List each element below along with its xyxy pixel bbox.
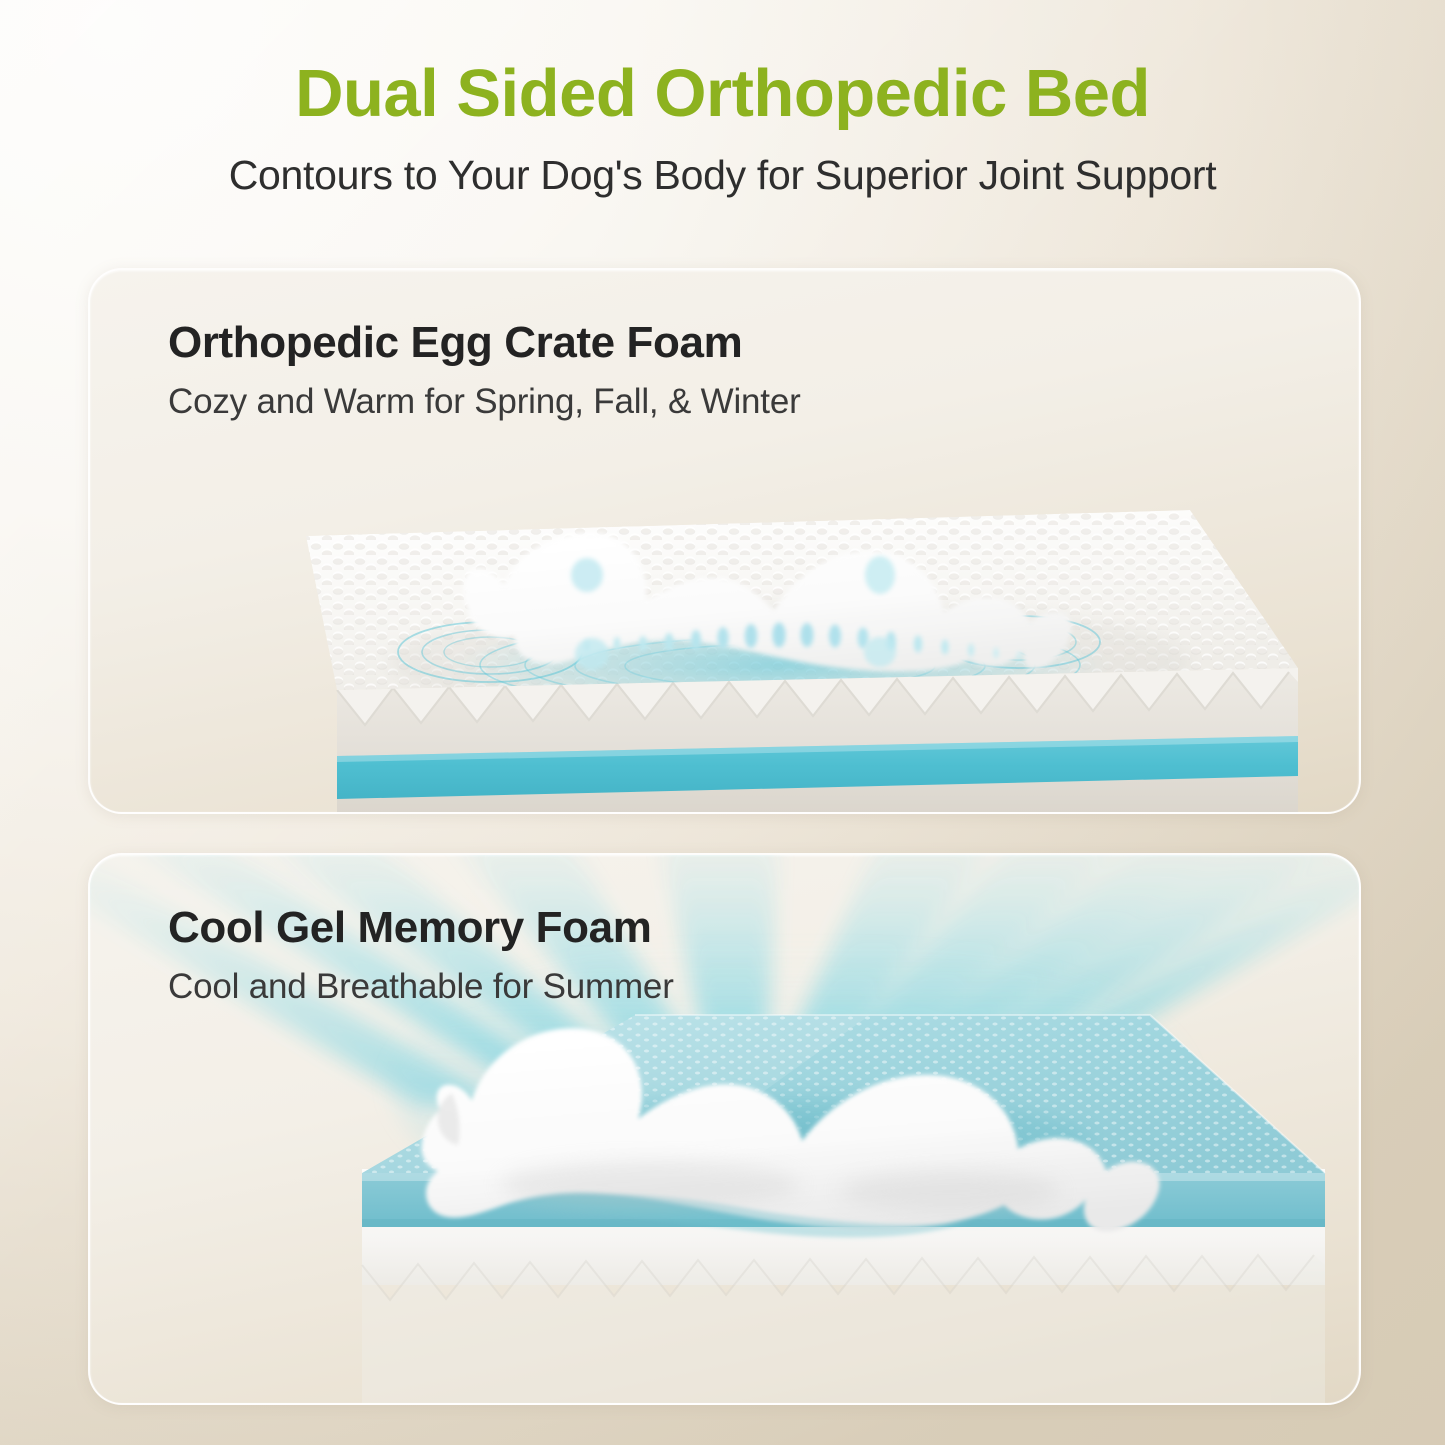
card-header-cool-gel: Cool Gel Memory Foam Cool and Breathable… — [168, 903, 674, 1007]
card-title: Cool Gel Memory Foam — [168, 903, 674, 953]
page-subtitle: Contours to Your Dog's Body for Superior… — [0, 152, 1445, 199]
card-subtitle: Cool and Breathable for Summer — [168, 967, 674, 1007]
card-header-egg-crate: Orthopedic Egg Crate Foam Cozy and Warm … — [168, 318, 801, 422]
infographic-canvas: Dual Sided Orthopedic Bed Contours to Yo… — [0, 0, 1445, 1445]
card-title: Orthopedic Egg Crate Foam — [168, 318, 801, 368]
feature-card-egg-crate-foam: Orthopedic Egg Crate Foam Cozy and Warm … — [88, 268, 1361, 814]
card-subtitle: Cozy and Warm for Spring, Fall, & Winter — [168, 382, 801, 422]
feature-card-cool-gel-memory-foam: Cool Gel Memory Foam Cool and Breathable… — [88, 853, 1361, 1405]
header: Dual Sided Orthopedic Bed Contours to Yo… — [0, 58, 1445, 199]
page-title: Dual Sided Orthopedic Bed — [0, 58, 1445, 130]
